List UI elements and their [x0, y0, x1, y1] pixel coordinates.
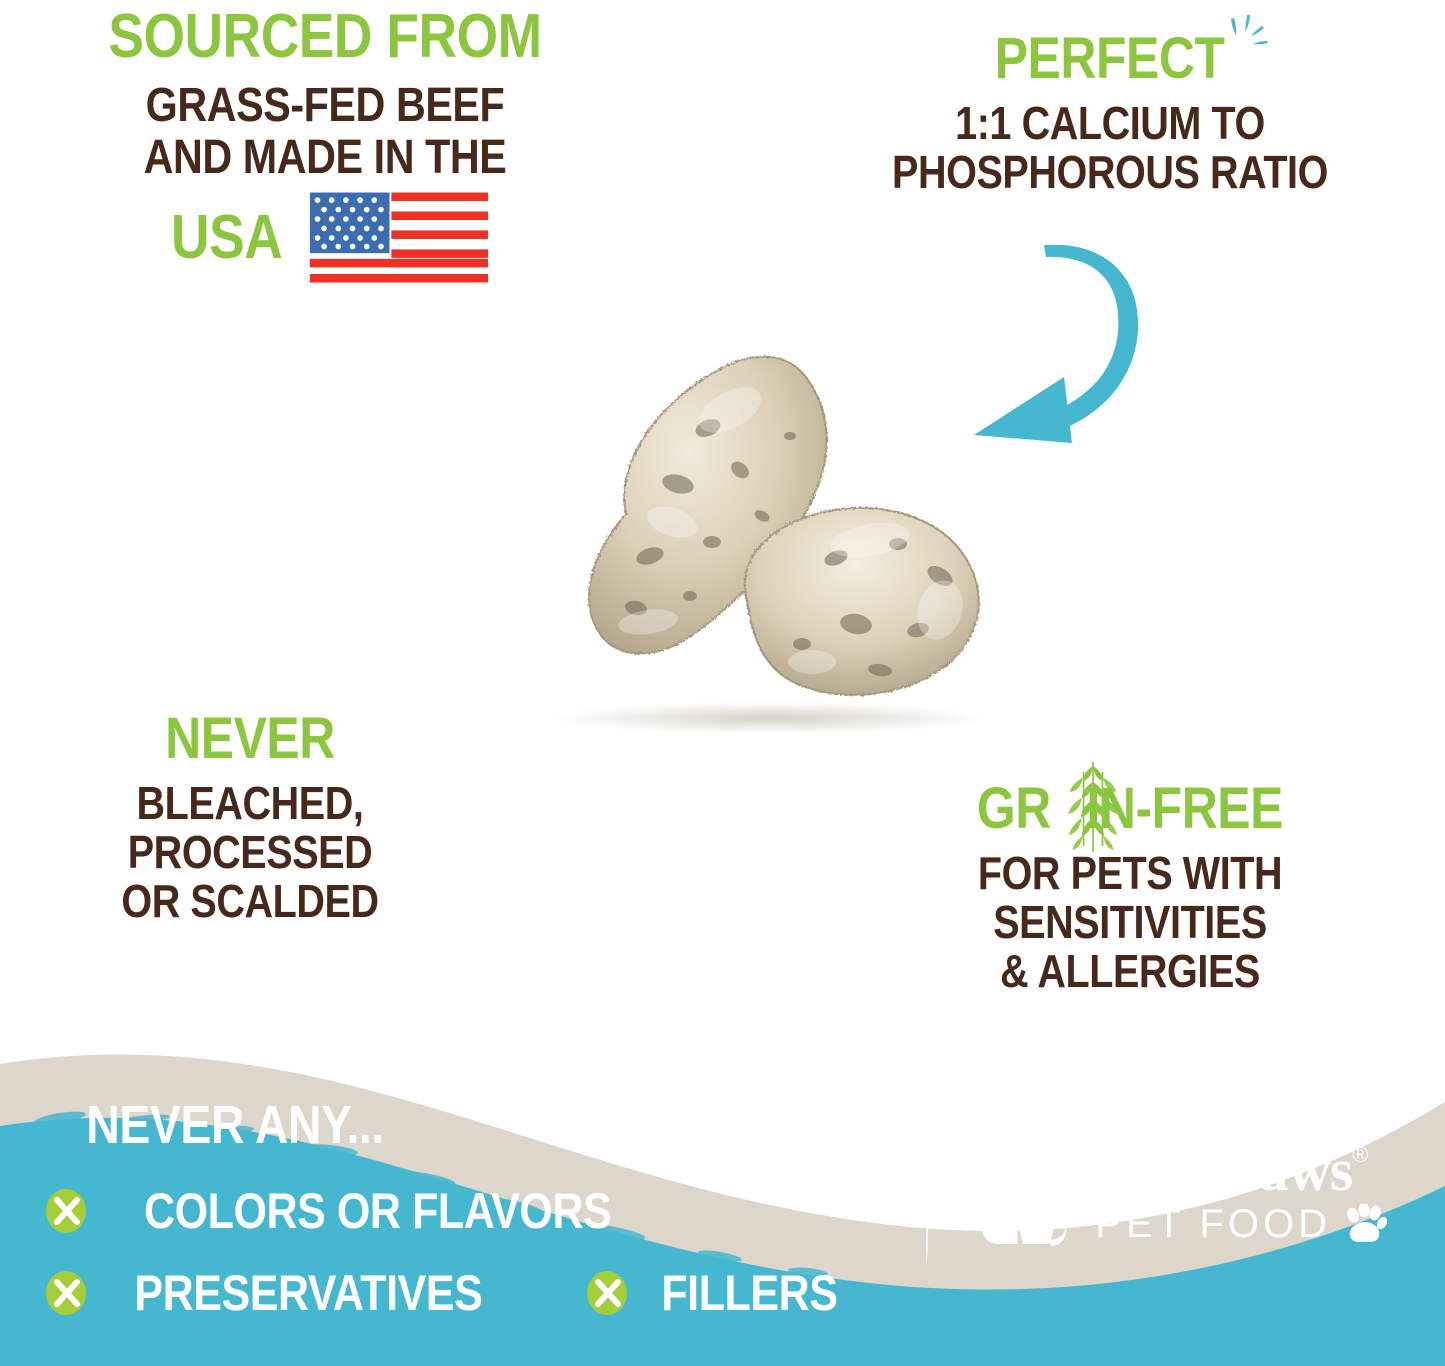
paw-print-icon [1343, 1204, 1387, 1244]
sourced-usa-label: USA [171, 207, 282, 269]
sparkle-icon [1220, 12, 1280, 68]
never-line-4: OR SCALDED [52, 878, 448, 924]
bullet-label-colors: COLORS OR FLAVORS [144, 1186, 611, 1236]
logo-name-row: Raw Paws ® [1095, 1140, 1387, 1200]
sourced-headline: SOURCED FROM [46, 6, 605, 68]
grain-free-headline: GRAIN-FREE [977, 780, 1283, 838]
never-headline: NEVER [52, 710, 448, 768]
grain-free-block: GRAIN-FREE [880, 780, 1380, 994]
x-circle-icon [44, 1271, 88, 1315]
grain-line-2: FOR PETS WITH [915, 850, 1345, 896]
banner-content: NEVER ANY... COLORS OR FLAVORS PRESERVAT… [0, 1076, 1445, 1366]
logo-subtitle-row: PET FOOD [1095, 1204, 1387, 1244]
perfect-line-2: 1:1 CALCIUM TO [843, 100, 1376, 146]
banner-title: NEVER ANY... [86, 1098, 384, 1152]
product-photo [440, 318, 1100, 743]
usa-flag-row: USA [0, 188, 650, 288]
never-bleached-block: NEVER BLEACHED, PROCESSED OR SCALDED [20, 710, 480, 924]
dog-cat-silhouette-icon [957, 1132, 1069, 1252]
logo-subtitle: PET FOOD [1095, 1204, 1331, 1244]
perfect-ratio-block: PERFECT 1:1 CALCIUM TO PHOSPHOROUS RATIO [800, 30, 1420, 195]
grain-stalk-icon [1060, 758, 1127, 854]
perfect-headline-wrap: PERFECT [976, 30, 1243, 88]
bullet-row-colors: COLORS OR FLAVORS [44, 1186, 649, 1236]
vertical-divider-icon [923, 1118, 931, 1266]
never-line-2: BLEACHED, [52, 780, 448, 826]
perfect-line-3: PHOSPHOROUS RATIO [843, 149, 1376, 195]
registered-mark: ® [1352, 1144, 1368, 1166]
logo-text: Raw Paws ® PET FOOD [1095, 1140, 1387, 1244]
sourced-from-block: SOURCED FROM GRASS-FED BEEF AND MADE IN … [0, 6, 650, 288]
us-flag-icon [308, 188, 488, 288]
bullet-row-preservatives: PRESERVATIVES FILLERS [44, 1268, 852, 1318]
never-line-3: PROCESSED [52, 829, 448, 875]
sourced-line-2: GRASS-FED BEEF [46, 82, 605, 130]
perfect-headline: PERFECT [995, 30, 1225, 88]
sourced-line-3: AND MADE IN THE [46, 134, 605, 182]
grain-headline-before: GR [977, 776, 1051, 841]
x-circle-icon [585, 1271, 629, 1315]
grain-line-3: SENSITIVITIES [915, 899, 1345, 945]
bullet-label-preservatives: PRESERVATIVES [134, 1268, 482, 1318]
bullet-label-fillers: FILLERS [661, 1268, 837, 1318]
grain-line-4: & ALLERGIES [915, 948, 1345, 994]
brand-logo: Raw Paws ® PET FOOD [923, 1118, 1387, 1266]
x-circle-icon [44, 1189, 88, 1233]
infographic-canvas: SOURCED FROM GRASS-FED BEEF AND MADE IN … [0, 0, 1445, 1366]
logo-name: Raw Paws [1095, 1140, 1352, 1200]
